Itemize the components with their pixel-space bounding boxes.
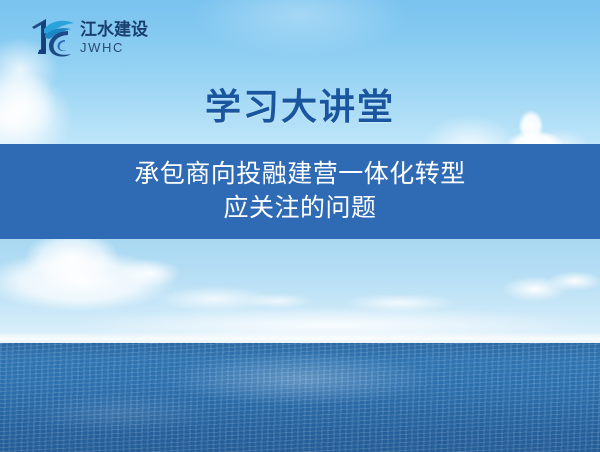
- sky-lower-background: [0, 239, 600, 344]
- logo-wordmark: 江水建设 JWHC: [80, 21, 148, 54]
- company-logo: 江水建设 JWHC: [28, 14, 168, 60]
- ocean-background: [0, 343, 600, 452]
- banner-subtitle-line-2: 应关注的问题: [223, 192, 376, 226]
- title-banner: 承包商向投融建营一体化转型 应关注的问题: [0, 144, 600, 239]
- logo-company-name-en: JWHC: [80, 41, 148, 54]
- presentation-slide: 江水建设 JWHC 学习大讲堂 承包商向投融建营一体化转型 应关注的问题: [0, 0, 600, 452]
- page-title: 学习大讲堂: [0, 78, 600, 130]
- banner-subtitle-line-1: 承包商向投融建营一体化转型: [134, 158, 466, 192]
- jwhc-wave-logo-icon: [28, 16, 76, 58]
- logo-company-name-cn: 江水建设: [80, 21, 148, 38]
